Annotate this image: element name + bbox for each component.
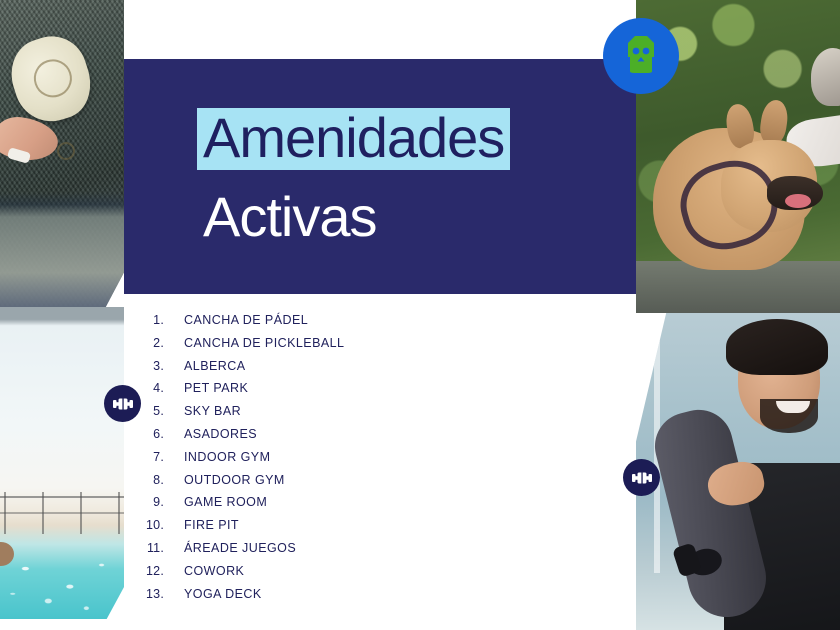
list-item: 1.CANCHA DE PÁDEL — [124, 313, 564, 336]
list-item-number: 2. — [124, 336, 164, 350]
list-item: 12.COWORK — [124, 564, 564, 587]
list-item-number: 6. — [124, 427, 164, 441]
list-item-number: 13. — [124, 587, 164, 601]
list-item: 10.FIRE PIT — [124, 518, 564, 541]
list-item: 2.CANCHA DE PICKLEBALL — [124, 336, 564, 359]
page-title-line-1: Amenidades — [203, 110, 504, 166]
dumbbell-icon — [112, 393, 134, 415]
list-item-label: SKY BAR — [184, 404, 241, 418]
list-item-label: CANCHA DE PÁDEL — [184, 313, 308, 327]
list-item-number: 10. — [124, 518, 164, 532]
list-item: 4.PET PARK — [124, 381, 564, 404]
amenities-slide: Amenidades Activas 1.CANCHA DE PÁDEL 2.C… — [0, 0, 840, 630]
dog-badge — [603, 18, 679, 94]
amenities-list: 1.CANCHA DE PÁDEL 2.CANCHA DE PICKLEBALL… — [124, 313, 564, 609]
list-item-label: ASADORES — [184, 427, 257, 441]
list-item: 13.YOGA DECK — [124, 587, 564, 610]
pickleball-photo — [0, 0, 127, 310]
list-item-label: PET PARK — [184, 381, 248, 395]
dog-tongue — [785, 194, 811, 208]
list-item-number: 1. — [124, 313, 164, 327]
list-item: 11.ÁREADE JUEGOS — [124, 541, 564, 564]
dog-face-icon — [614, 29, 668, 83]
railing-post — [80, 492, 82, 534]
list-item-label: ALBERCA — [184, 359, 246, 373]
title-band: Amenidades Activas — [124, 59, 636, 294]
list-item-number: 3. — [124, 359, 164, 373]
list-item-label: GAME ROOM — [184, 495, 267, 509]
list-item: 9.GAME ROOM — [124, 495, 564, 518]
railing-bar-top — [0, 496, 127, 498]
title-highlight-box: Amenidades — [197, 108, 510, 170]
list-item-number: 12. — [124, 564, 164, 578]
list-item-label: ÁREADE JUEGOS — [184, 541, 296, 555]
gym-badge-right — [623, 459, 660, 496]
pool-photo — [0, 307, 127, 619]
railing-post — [118, 492, 120, 534]
railing-post — [42, 492, 44, 534]
pool-railing — [0, 492, 127, 534]
list-item-label: COWORK — [184, 564, 244, 578]
gym-badge-left — [104, 385, 141, 422]
list-item-label: CANCHA DE PICKLEBALL — [184, 336, 344, 350]
list-item: 7.INDOOR GYM — [124, 450, 564, 473]
list-item-label: YOGA DECK — [184, 587, 262, 601]
page-title-line-2: Activas — [203, 189, 377, 245]
list-item-number: 9. — [124, 495, 164, 509]
list-item: 5.SKY BAR — [124, 404, 564, 427]
pool-water-sparkle — [0, 547, 127, 619]
list-item-label: INDOOR GYM — [184, 450, 270, 464]
man-hair — [726, 319, 828, 375]
list-item: 8.OUTDOOR GYM — [124, 473, 564, 496]
list-item-number: 11. — [124, 541, 164, 555]
railing-post — [4, 492, 6, 534]
list-item-number: 8. — [124, 473, 164, 487]
list-item-label: FIRE PIT — [184, 518, 239, 532]
dumbbell-icon — [631, 467, 653, 489]
list-item: 3.ALBERCA — [124, 359, 564, 382]
list-item-label: OUTDOOR GYM — [184, 473, 285, 487]
railing-bar-bottom — [0, 512, 127, 514]
list-item: 6.ASADORES — [124, 427, 564, 450]
list-item-number: 7. — [124, 450, 164, 464]
